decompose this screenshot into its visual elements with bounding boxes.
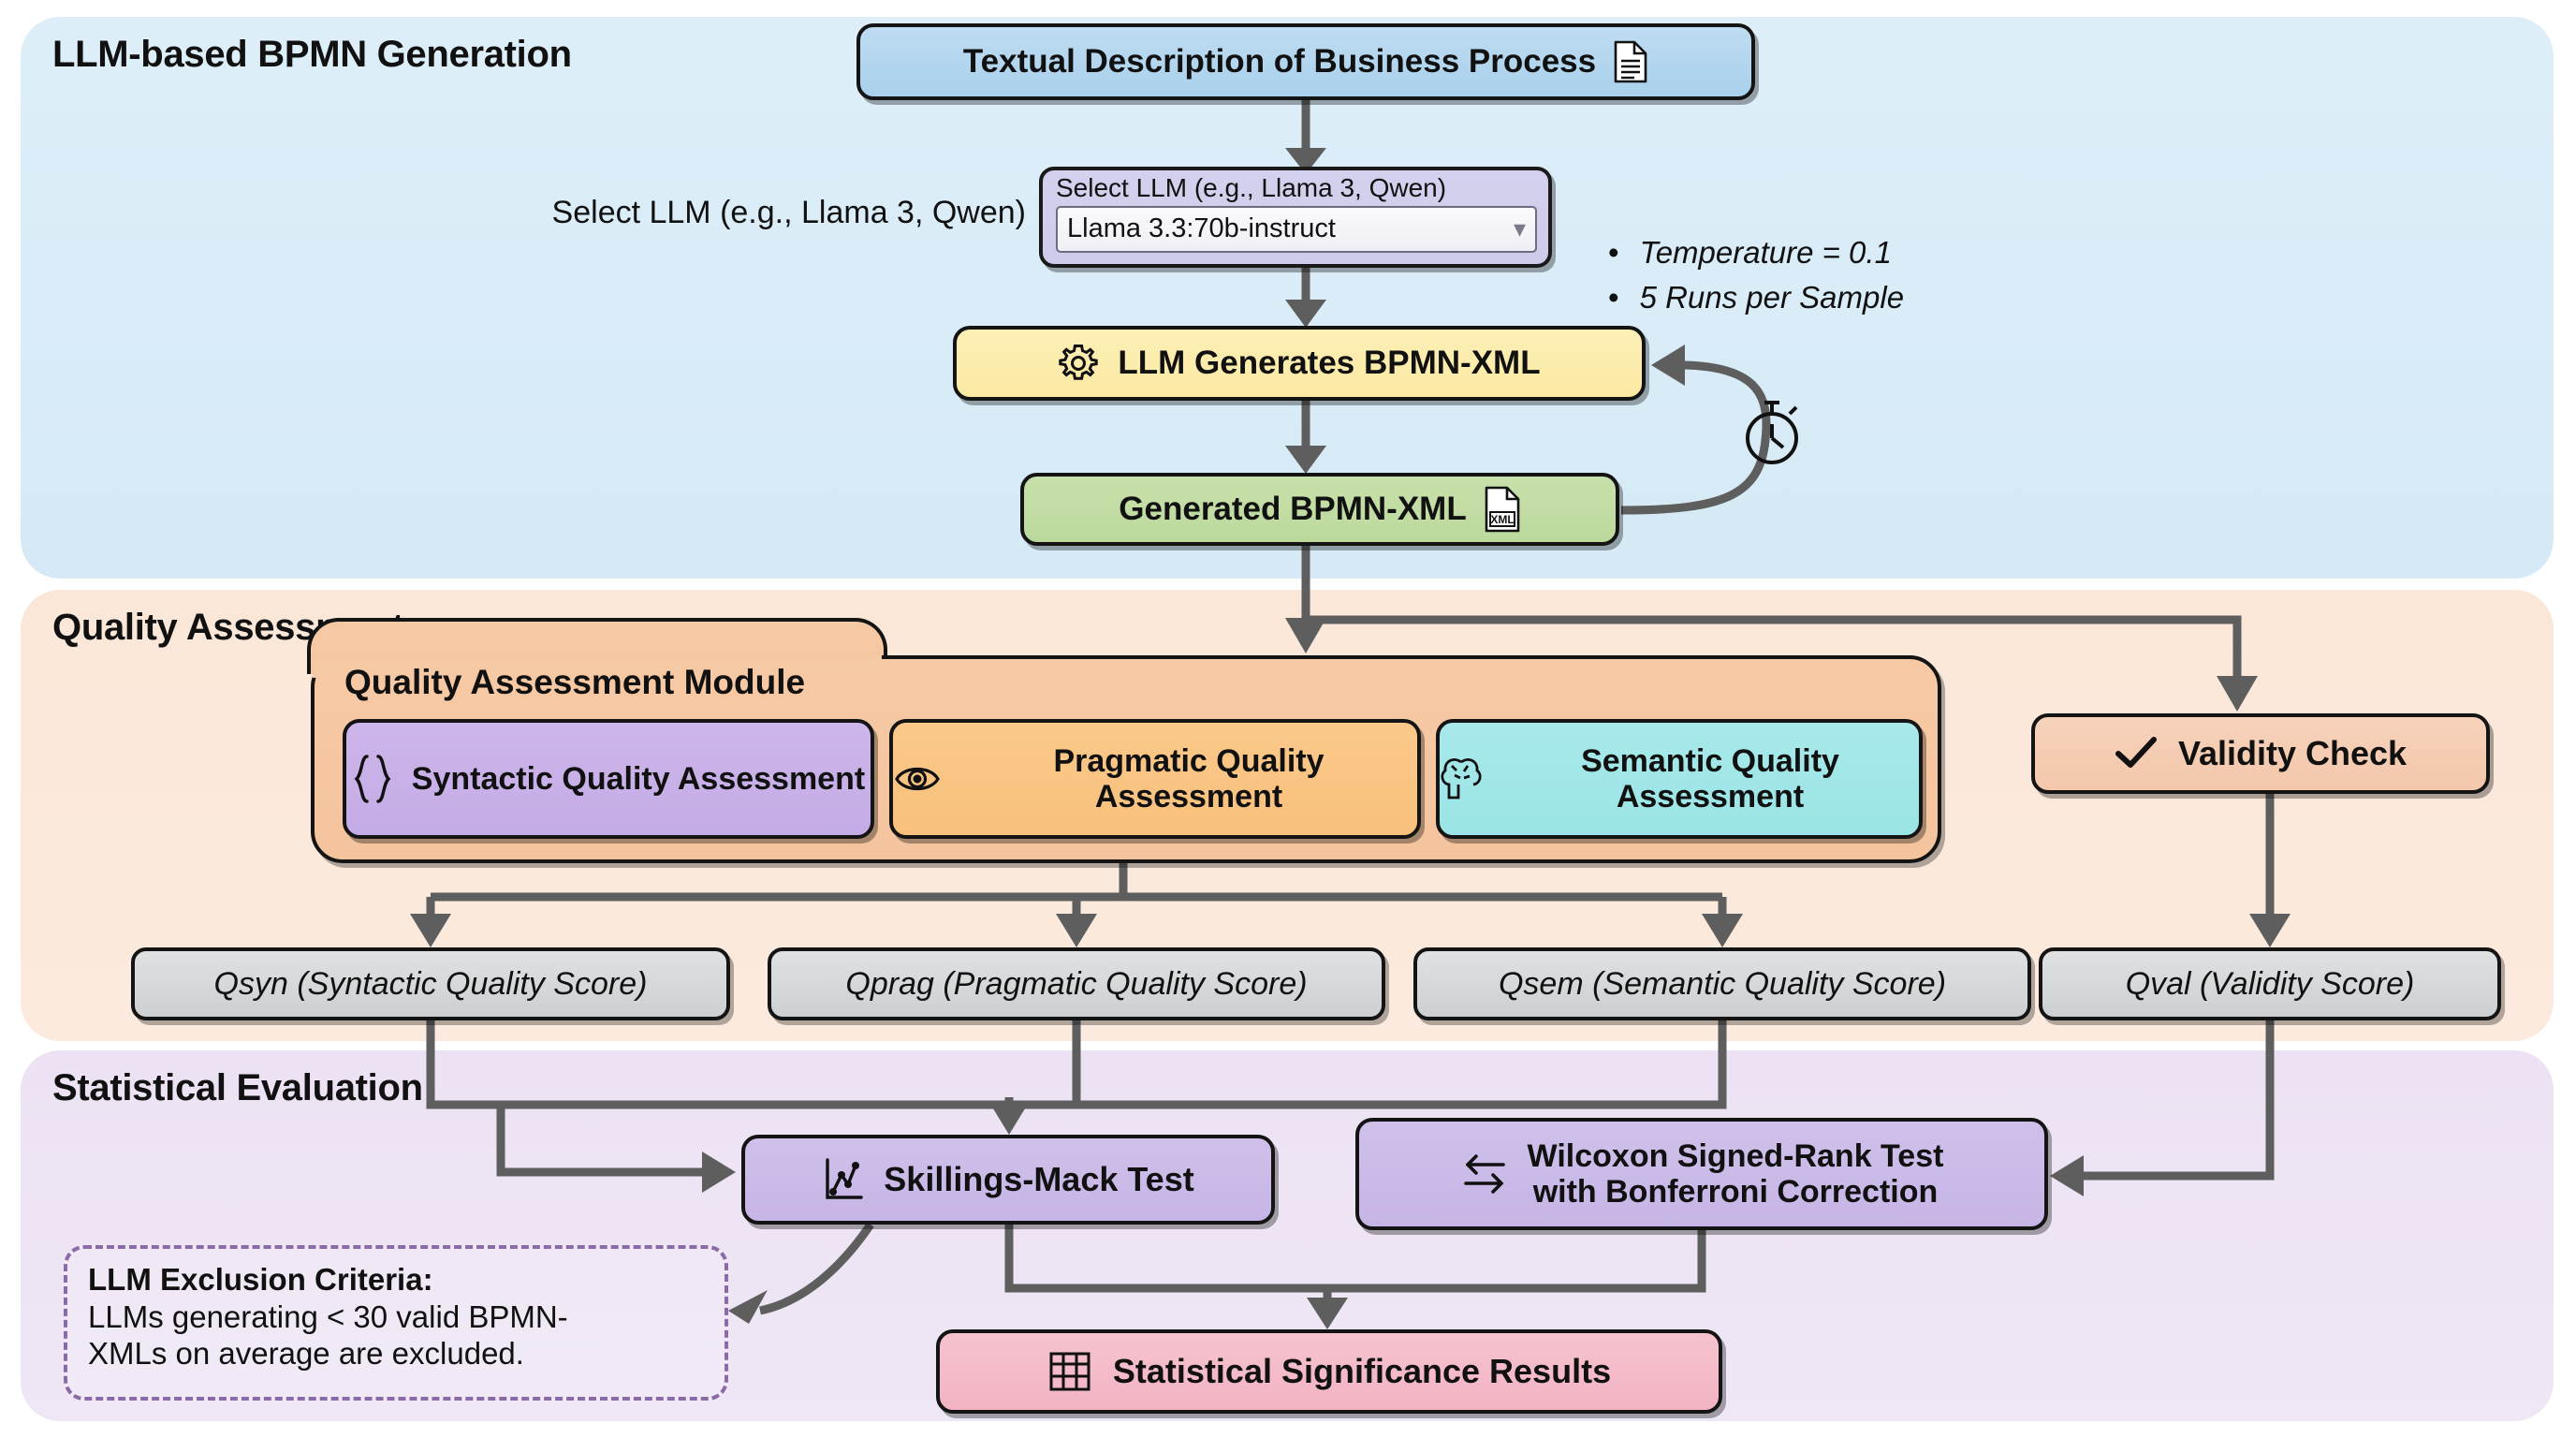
band-title-generation: LLM-based BPMN Generation (52, 34, 572, 76)
node-pragmatic-label: Pragmatic Quality Assessment (960, 743, 1417, 814)
node-syntactic-label: Syntactic Quality Assessment (412, 761, 865, 797)
score-qsem-label: Qsem (Semantic Quality Score) (1499, 966, 1946, 1003)
node-syntactic-quality-assessment[interactable]: Syntactic Quality Assessment (343, 719, 874, 839)
stopwatch-icon (1737, 393, 1807, 475)
band-title-statistical: Statistical Evaluation (52, 1067, 423, 1109)
node-pragmatic-quality-assessment[interactable]: Pragmatic Quality Assessment (889, 719, 1421, 839)
node-llm-generates-label: LLM Generates BPMN-XML (1118, 345, 1540, 381)
llm-select-value: Llama 3.3:70b-instruct (1067, 213, 1336, 244)
svg-text:XML: XML (1490, 513, 1514, 526)
node-semantic-label: Semantic Quality Assessment (1501, 743, 1919, 814)
node-validity-check-label: Validity Check (2178, 735, 2407, 772)
exclusion-body-line2: XMLs on average are excluded. (88, 1336, 704, 1372)
node-semantic-quality-assessment[interactable]: Semantic Quality Assessment (1436, 719, 1923, 839)
node-statistical-significance-results[interactable]: Statistical Significance Results (936, 1329, 1722, 1414)
table-icon (1047, 1350, 1092, 1393)
llm-select-widget[interactable]: Select LLM (e.g., Llama 3, Qwen) Llama 3… (1039, 167, 1552, 268)
select-llm-caption: Select LLM (e.g., Llama 3, Qwen) (483, 195, 1026, 231)
node-textual-description-label: Textual Description of Business Process (963, 43, 1596, 80)
gear-icon (1058, 343, 1099, 384)
node-results-label: Statistical Significance Results (1113, 1353, 1611, 1390)
line-chart-icon (822, 1156, 865, 1203)
node-wilcoxon-label: Wilcoxon Signed-Rank Test with Bonferron… (1528, 1138, 1944, 1210)
score-qprag[interactable]: Qprag (Pragmatic Quality Score) (768, 947, 1385, 1020)
node-skillings-mack-label: Skillings-Mack Test (884, 1161, 1193, 1198)
node-generated-xml-label: Generated BPMN-XML (1119, 491, 1466, 527)
xml-file-icon: XML (1484, 486, 1521, 533)
node-wilcoxon-test[interactable]: Wilcoxon Signed-Rank Test with Bonferron… (1355, 1118, 2048, 1230)
node-wilcoxon-line2: with Bonferroni Correction (1533, 1174, 1939, 1210)
score-qsem[interactable]: Qsem (Semantic Quality Score) (1413, 947, 2031, 1020)
llm-select-dropdown[interactable]: Llama 3.3:70b-instruct ▾ (1056, 206, 1537, 253)
diagram-canvas: LLM-based BPMN Generation Quality Assess… (0, 0, 2576, 1438)
braces-icon (352, 753, 393, 805)
generation-parameters: •Temperature = 0.1 •5 Runs per Sample (1608, 230, 1904, 320)
node-generated-bpmn-xml[interactable]: Generated BPMN-XML XML (1020, 473, 1619, 546)
score-qval-label: Qval (Validity Score) (2126, 966, 2415, 1003)
node-skillings-mack-test[interactable]: Skillings-Mack Test (741, 1135, 1275, 1225)
score-qsyn[interactable]: Qsyn (Syntactic Quality Score) (131, 947, 730, 1020)
param-label: Temperature = 0.1 (1640, 230, 1892, 275)
brain-icon (1440, 753, 1483, 805)
exclusion-heading: LLM Exclusion Criteria: (88, 1262, 704, 1298)
param-label: 5 Runs per Sample (1640, 275, 1904, 320)
node-textual-description[interactable]: Textual Description of Business Process (856, 23, 1755, 100)
param-item: •5 Runs per Sample (1608, 275, 1904, 320)
check-icon (2115, 735, 2158, 772)
score-qprag-label: Qprag (Pragmatic Quality Score) (845, 966, 1307, 1003)
node-wilcoxon-line1: Wilcoxon Signed-Rank Test (1528, 1138, 1944, 1174)
left-right-arrows-icon (1460, 1150, 1509, 1198)
param-item: •Temperature = 0.1 (1608, 230, 1904, 275)
bullet-icon: • (1608, 230, 1619, 275)
document-icon (1613, 40, 1648, 83)
eye-icon (893, 760, 942, 798)
llm-exclusion-criteria-box: LLM Exclusion Criteria: LLMs generating … (64, 1245, 728, 1401)
node-validity-check[interactable]: Validity Check (2031, 713, 2490, 794)
node-llm-generates-bpmn-xml[interactable]: LLM Generates BPMN-XML (953, 326, 1646, 401)
quality-assessment-module-title: Quality Assessment Module (344, 663, 805, 702)
score-qval[interactable]: Qval (Validity Score) (2039, 947, 2501, 1020)
bullet-icon: • (1608, 275, 1619, 320)
chevron-down-icon: ▾ (1514, 214, 1526, 243)
score-qsyn-label: Qsyn (Syntactic Quality Score) (214, 966, 648, 1003)
exclusion-body-line1: LLMs generating < 30 valid BPMN- (88, 1299, 704, 1336)
llm-select-caption: Select LLM (e.g., Llama 3, Qwen) (1056, 174, 1537, 203)
